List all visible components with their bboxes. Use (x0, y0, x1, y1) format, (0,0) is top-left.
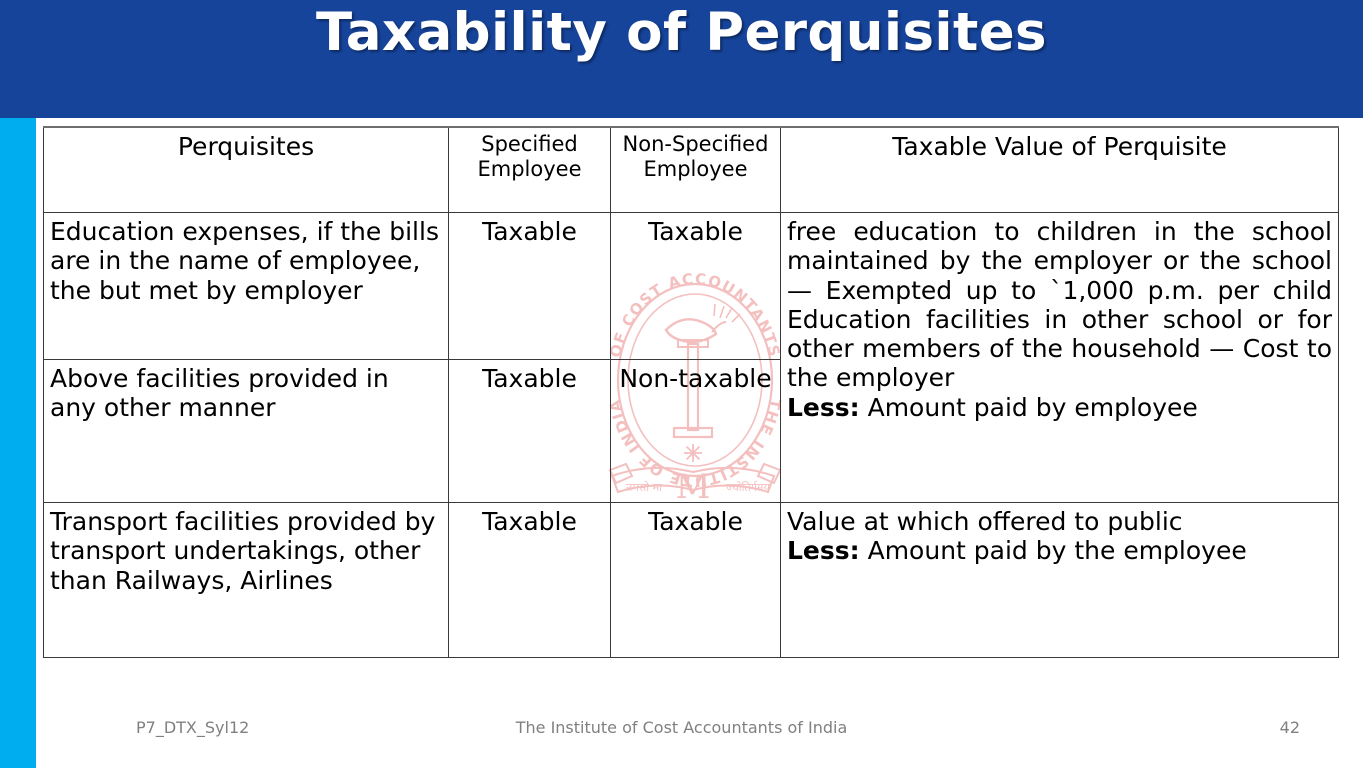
header-line-2: Employee (477, 157, 581, 181)
column-header-taxable-value: Taxable Value of Perquisite (781, 127, 1339, 213)
cell-specified-employee: Taxable (449, 503, 611, 658)
cell-taxable-value: Value at which offered to public Less: A… (781, 503, 1339, 658)
cell-perquisite: Transport facilities provided by transpo… (44, 503, 449, 658)
title-banner: Taxability of Perquisites (0, 0, 1363, 118)
footer-page-number: 42 (1280, 718, 1300, 737)
cell-specified-employee: Taxable (449, 213, 611, 360)
taxable-value-less-line: Less: Amount paid by employee (787, 393, 1332, 422)
table-header-row: Perquisites Specified Employee Non-Speci… (44, 127, 1339, 213)
cell-non-specified-employee: Non-taxable (611, 360, 781, 503)
perquisites-table: Perquisites Specified Employee Non-Speci… (43, 126, 1339, 658)
column-header-perquisites: Perquisites (44, 127, 449, 213)
less-label: Less: (787, 393, 860, 422)
taxable-value-part-2: Education facilities in other school or … (787, 305, 1332, 393)
column-header-non-specified-employee: Non-Specified Employee (611, 127, 781, 213)
header-line-2: Employee (643, 157, 747, 181)
less-text: Amount paid by the employee (860, 536, 1247, 565)
table-row: Transport facilities provided by transpo… (44, 503, 1339, 658)
cell-non-specified-employee: Taxable (611, 213, 781, 360)
left-accent-strip (0, 118, 36, 768)
less-label: Less: (787, 536, 860, 565)
cell-perquisite: Above facilities provided in any other m… (44, 360, 449, 503)
taxable-value-line-1: Value at which offered to public (787, 507, 1332, 536)
taxable-value-less-line: Less: Amount paid by the employee (787, 536, 1332, 565)
page-title: Taxability of Perquisites (0, 2, 1363, 63)
header-line-1: Specified (481, 132, 577, 156)
column-header-specified-employee: Specified Employee (449, 127, 611, 213)
cell-specified-employee: Taxable (449, 360, 611, 503)
header-line-1: Non-Specified (623, 132, 769, 156)
cell-perquisite: Education expenses, if the bills are in … (44, 213, 449, 360)
footer-institute-name: The Institute of Cost Accountants of Ind… (0, 718, 1363, 737)
cell-non-specified-employee: Taxable (611, 503, 781, 658)
less-text: Amount paid by employee (860, 393, 1198, 422)
taxable-value-part-1: free education to children in the school… (787, 217, 1332, 305)
table-row: Education expenses, if the bills are in … (44, 213, 1339, 360)
cell-taxable-value: free education to children in the school… (781, 213, 1339, 503)
slide-footer: P7_DTX_Syl12 The Institute of Cost Accou… (0, 718, 1363, 754)
